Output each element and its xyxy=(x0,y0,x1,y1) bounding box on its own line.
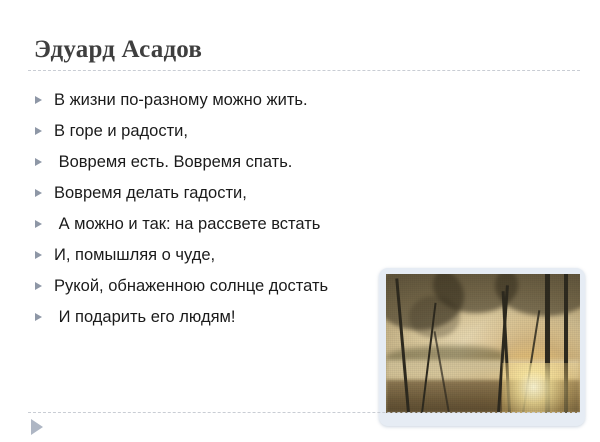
bullet-triangle-icon xyxy=(35,282,42,290)
bullet-triangle-icon xyxy=(35,251,42,259)
play-triangle-icon[interactable] xyxy=(31,419,43,435)
page-title: Эдуард Асадов xyxy=(34,36,202,64)
list-item: Вовремя делать гадости, xyxy=(32,177,452,208)
list-item: А можно и так: на рассвете встать xyxy=(32,208,452,239)
sunrise-forest-photo xyxy=(386,274,580,413)
list-item-label: В горе и радости, xyxy=(54,121,188,141)
list-item: Вовремя есть. Вовремя спать. xyxy=(32,146,452,177)
bullet-triangle-icon xyxy=(35,313,42,321)
footer-divider xyxy=(28,412,580,413)
list-item: В горе и радости, xyxy=(32,115,452,146)
list-item-label: Вовремя делать гадости, xyxy=(54,183,247,203)
photo-grain-overlay xyxy=(386,274,580,413)
list-item-label: Вовремя есть. Вовремя спать. xyxy=(54,152,292,172)
bullet-triangle-icon xyxy=(35,158,42,166)
slide-canvas: Эдуард Асадов В жизни по-разному можно ж… xyxy=(0,0,600,442)
list-item-label: И, помышляя о чуде, xyxy=(54,245,215,265)
list-item-label: А можно и так: на рассвете встать xyxy=(54,214,320,234)
bullet-triangle-icon xyxy=(35,189,42,197)
bullet-triangle-icon xyxy=(35,127,42,135)
list-item-label: В жизни по-разному можно жить. xyxy=(54,90,308,110)
list-item-label: Рукой, обнаженною солнце достать xyxy=(54,276,328,296)
list-item: В жизни по-разному можно жить. xyxy=(32,84,452,115)
title-divider xyxy=(28,70,580,71)
list-item-label: И подарить его людям! xyxy=(54,307,235,327)
bullet-triangle-icon xyxy=(35,220,42,228)
bullet-triangle-icon xyxy=(35,96,42,104)
photo-frame xyxy=(379,268,585,426)
list-item: И, помышляя о чуде, xyxy=(32,239,452,270)
